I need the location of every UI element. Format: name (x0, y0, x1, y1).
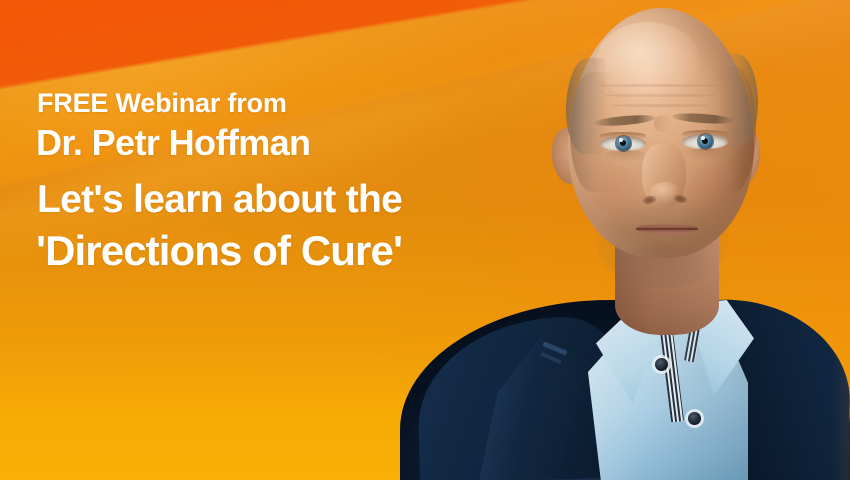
hair-right-temple (720, 54, 758, 146)
suit-jacket (400, 300, 850, 480)
jacket-lapel-notch (542, 341, 568, 355)
presenter-name: Dr. Petr Hoffman (36, 121, 636, 165)
shirt-collar-left (596, 306, 666, 404)
iris-right (698, 134, 713, 149)
nostril-left (642, 195, 656, 206)
nostril-right (673, 194, 687, 205)
jacket-lapel-notch-lower (540, 352, 562, 365)
lip-line (636, 228, 698, 230)
dress-shirt-shading (588, 300, 748, 480)
eye-glint-right (701, 136, 705, 140)
eye-right (682, 134, 728, 149)
nose-tip-highlight (650, 182, 680, 204)
pupil-right (702, 138, 708, 144)
mouth (636, 224, 698, 234)
eyelid-right (682, 130, 728, 137)
chin-shadow (630, 244, 708, 276)
nose (642, 144, 686, 208)
eyebrow-right (672, 112, 734, 125)
jacket-lapel-left (478, 336, 586, 480)
shirt-placket-trim-upper (684, 292, 707, 363)
temple-shadow-right (712, 66, 756, 192)
jacket-left-panel (416, 315, 635, 480)
headline-title-line-2: 'Directions of Cure' (36, 226, 636, 276)
shirt-button-upper (655, 358, 668, 371)
headline-eyebrow: FREE Webinar from (37, 86, 636, 120)
headline-title-line-1: Let's learn about the (37, 176, 636, 224)
dress-shirt (588, 300, 748, 480)
cheek-shadow-right (688, 162, 742, 222)
shirt-collar-right (682, 300, 754, 396)
jacket-right-panel (648, 298, 850, 480)
headline-block: FREE Webinar from Dr. Petr Hoffman Let's… (36, 86, 636, 276)
glabella-line (653, 115, 673, 133)
under-eye-shadow-right (682, 148, 730, 160)
webinar-banner: FREE Webinar from Dr. Petr Hoffman Let's… (0, 0, 850, 480)
shirt-button-lower (688, 412, 701, 425)
shirt-placket-trim (659, 322, 684, 423)
ear-right (722, 124, 763, 188)
